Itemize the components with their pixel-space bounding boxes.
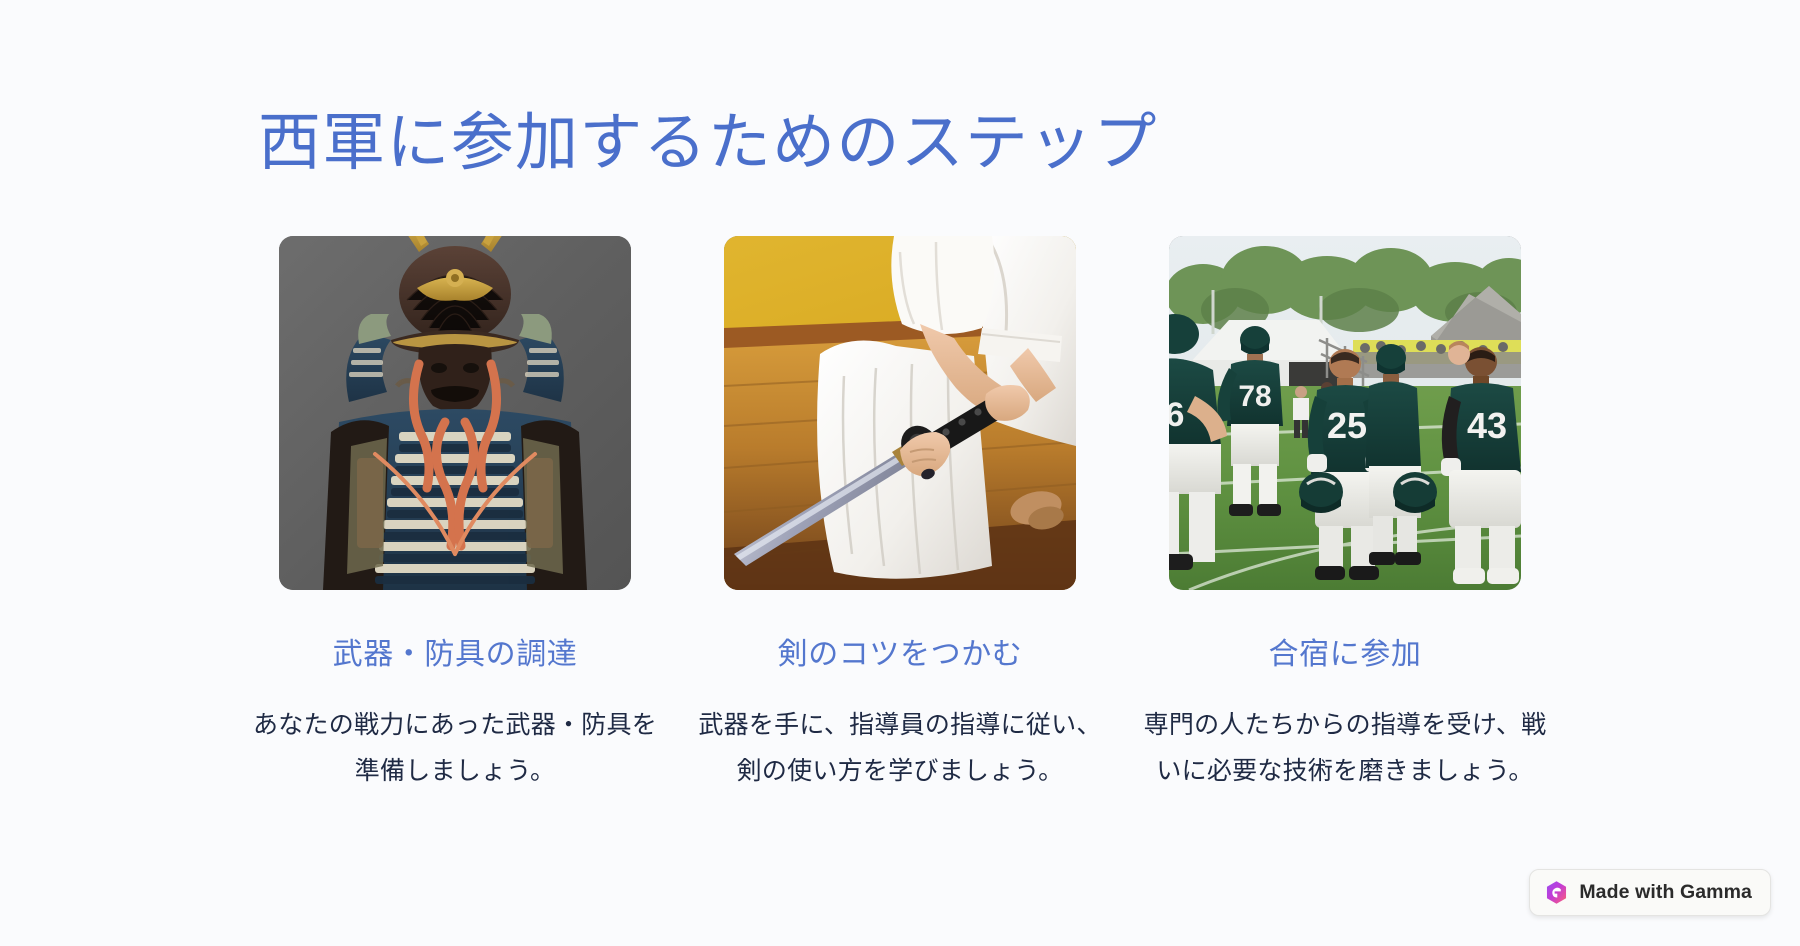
page-title: 西軍に参加するためのステップ	[258, 104, 1158, 183]
step-card-1-heading: 武器・防具の調達	[333, 634, 578, 676]
step-card-3-body: 専門の人たちからの指導を受け、戦いに必要な技術を磨きましょう。	[1140, 703, 1550, 794]
kendo-sword-practice-photo	[724, 236, 1076, 590]
svg-text:43: 43	[1467, 405, 1507, 446]
step-card-2: 剣のコツをつかむ 武器を手に、指導員の指導に従い、剣の使い方を学びましょう。	[700, 236, 1100, 794]
step-card-1: 武器・防具の調達 あなたの戦力にあった武器・防具を準備しましょう。	[255, 236, 655, 794]
step-card-3: 78 6	[1145, 236, 1545, 794]
made-with-gamma-label: Made with Gamma	[1579, 881, 1752, 904]
svg-text:6: 6	[1169, 396, 1184, 434]
samurai-armor-photo	[279, 236, 631, 590]
step-card-3-heading: 合宿に参加	[1269, 634, 1422, 676]
steps-card-row: 武器・防具の調達 あなたの戦力にあった武器・防具を準備しましょう。	[255, 236, 1545, 794]
step-card-2-body: 武器を手に、指導員の指導に従い、剣の使い方を学びましょう。	[695, 703, 1105, 794]
slide-canvas: 西軍に参加するためのステップ	[0, 0, 1800, 946]
svg-text:25: 25	[1327, 405, 1367, 446]
football-training-camp-photo: 78 6	[1169, 236, 1521, 590]
step-card-2-heading: 剣のコツをつかむ	[778, 634, 1023, 676]
gamma-logo-icon	[1544, 880, 1569, 905]
made-with-gamma-badge[interactable]: Made with Gamma	[1529, 869, 1771, 916]
step-card-1-body: あなたの戦力にあった武器・防具を準備しましょう。	[250, 703, 660, 794]
svg-text:78: 78	[1238, 380, 1271, 413]
